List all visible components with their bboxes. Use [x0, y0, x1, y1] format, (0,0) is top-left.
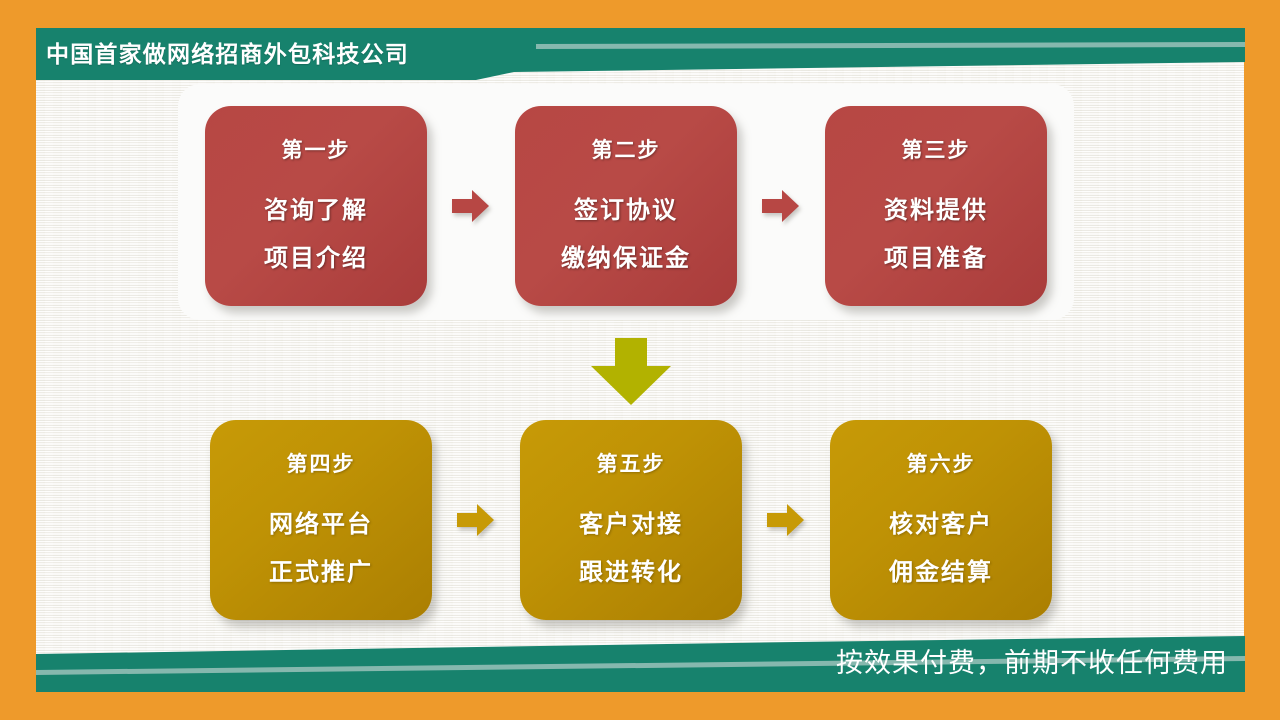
step-title: 第三步 [902, 134, 971, 164]
flow-row-bottom: 第四步 网络平台 正式推广 第五步 客户对接 跟进转化 第六步 [210, 420, 1052, 620]
step-title: 第六步 [907, 448, 976, 478]
step-lines: 咨询了解 项目介绍 [264, 190, 368, 273]
arrow-right-red-icon [427, 189, 515, 223]
step-title: 第二步 [592, 134, 661, 164]
step-line: 签订协议 [574, 190, 678, 225]
step-lines: 网络平台 正式推广 [269, 504, 373, 587]
step-line: 核对客户 [889, 504, 993, 539]
step-title: 第五步 [597, 448, 666, 478]
arrow-down-olive-icon [589, 338, 673, 406]
step-line: 正式推广 [269, 552, 373, 587]
step-lines: 客户对接 跟进转化 [579, 504, 683, 587]
arrow-right-gold-icon [742, 503, 830, 537]
step-line: 缴纳保证金 [561, 238, 691, 273]
step-line: 项目介绍 [264, 238, 368, 273]
step-card-1[interactable]: 第一步 咨询了解 项目介绍 [205, 106, 427, 306]
step-line: 网络平台 [269, 504, 373, 539]
step-title: 第四步 [287, 448, 356, 478]
step-line: 客户对接 [579, 504, 683, 539]
flow-row-top: 第一步 咨询了解 项目介绍 第二步 签订协议 缴纳保证金 第三步 [205, 106, 1047, 306]
step-card-6[interactable]: 第六步 核对客户 佣金结算 [830, 420, 1052, 620]
slide-canvas: 中国首家做网络招商外包科技公司 第一步 咨询了解 项目介绍 第二步 签订协议 缴… [0, 0, 1280, 720]
step-lines: 签订协议 缴纳保证金 [561, 190, 691, 273]
footer-tagline: 按效果付费，前期不收任何费用 [836, 646, 1228, 680]
step-line: 佣金结算 [889, 552, 993, 587]
step-card-3[interactable]: 第三步 资料提供 项目准备 [825, 106, 1047, 306]
step-card-4[interactable]: 第四步 网络平台 正式推广 [210, 420, 432, 620]
step-card-5[interactable]: 第五步 客户对接 跟进转化 [520, 420, 742, 620]
step-line: 项目准备 [884, 238, 988, 273]
step-line: 资料提供 [884, 190, 988, 225]
step-line: 跟进转化 [579, 552, 683, 587]
arrow-right-red-icon [737, 189, 825, 223]
step-title: 第一步 [282, 134, 351, 164]
step-lines: 资料提供 项目准备 [884, 190, 988, 273]
arrow-right-gold-icon [432, 503, 520, 537]
step-lines: 核对客户 佣金结算 [889, 504, 993, 587]
step-card-2[interactable]: 第二步 签订协议 缴纳保证金 [515, 106, 737, 306]
page-title: 中国首家做网络招商外包科技公司 [46, 36, 409, 72]
step-line: 咨询了解 [264, 190, 368, 225]
